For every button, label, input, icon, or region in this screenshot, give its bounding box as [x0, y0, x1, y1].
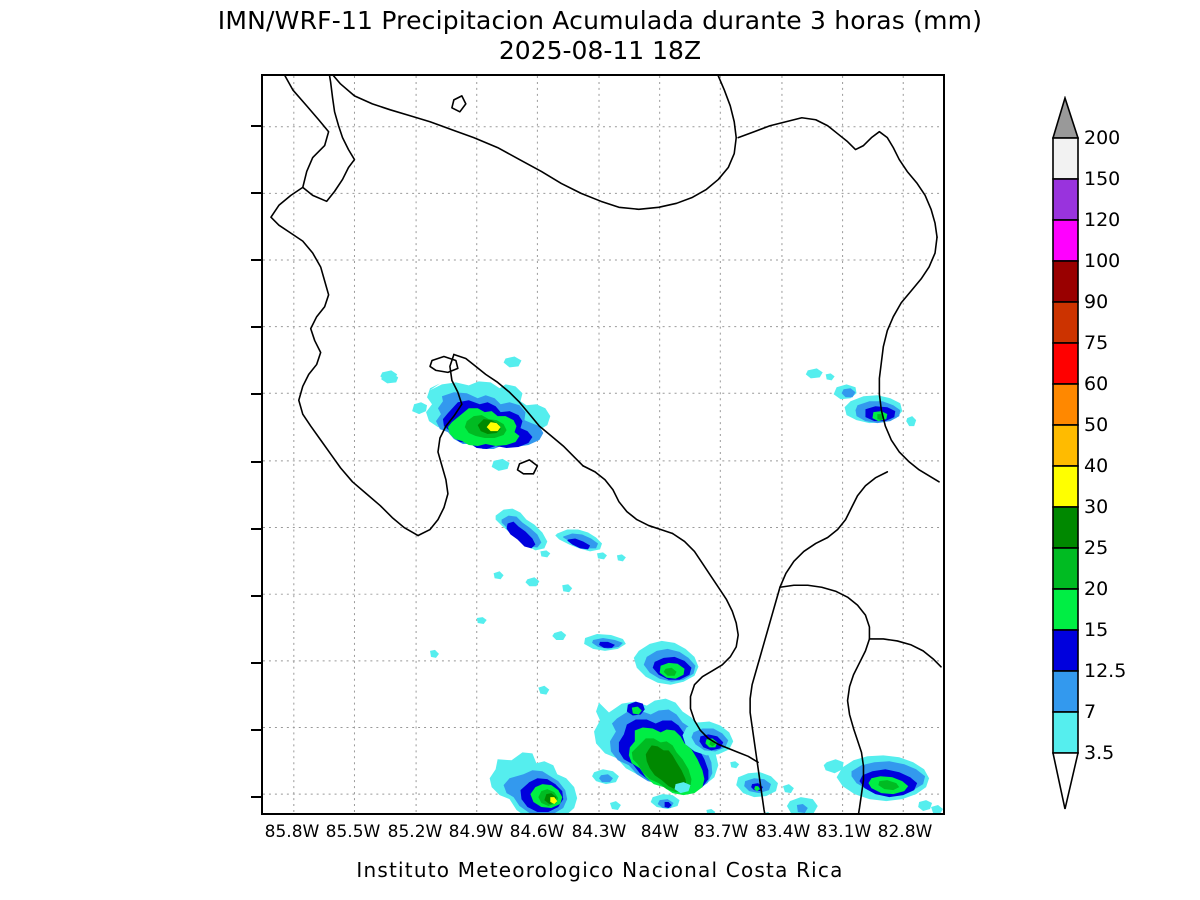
xtick-label-85-5w: 85.5W — [326, 822, 381, 842]
title-line-datetime: 2025-08-11 18Z — [0, 36, 1200, 66]
ytick-mark-8-4n — [251, 729, 261, 731]
colorbar-band-20 — [1053, 589, 1078, 630]
xtick-label-82-8w: 82.8W — [878, 822, 933, 842]
colorbar-label-200: 200 — [1084, 127, 1120, 149]
colorbar-label-7: 7 — [1084, 701, 1096, 723]
colorbar-label-60: 60 — [1084, 373, 1108, 395]
colorbar-band-150 — [1053, 179, 1078, 220]
colorbar-band-75 — [1053, 343, 1078, 384]
xtick-label-84-6w: 84.6W — [510, 822, 565, 842]
precip-cell-northeast — [806, 368, 916, 426]
ytick-mark-9n — [251, 595, 261, 597]
colorbar-band-200 — [1053, 138, 1078, 179]
ytick-mark-9-6n — [251, 461, 261, 463]
colorbar-label-150: 150 — [1084, 168, 1120, 190]
ytick-mark-10-5n — [251, 259, 261, 261]
xtick-label-84-9w: 84.9W — [449, 822, 504, 842]
colorbar-under-arrow — [1053, 753, 1078, 809]
colorbar-band-100 — [1053, 261, 1078, 302]
colorbar-band-90 — [1053, 302, 1078, 343]
colorbar-band-12-5 — [1053, 671, 1078, 712]
colorbar-label-120: 120 — [1084, 209, 1120, 231]
colorbar-over-arrow — [1053, 98, 1078, 138]
colorbar-band-25 — [1053, 548, 1078, 589]
colorbar-label-50: 50 — [1084, 414, 1108, 436]
coastline-overlay — [271, 76, 941, 813]
colorbar-label-12-5: 12.5 — [1084, 660, 1126, 682]
colorbar-band-30 — [1053, 507, 1078, 548]
xtick-label-84w: 84W — [641, 822, 679, 842]
xtick-label-85-2w: 85.2W — [388, 822, 443, 842]
title-line-main: IMN/WRF-11 Precipitacion Acumulada duran… — [0, 6, 1200, 36]
map-plot-area — [261, 74, 945, 815]
colorbar-band-120 — [1053, 220, 1078, 261]
precip-cell-panama-border — [824, 755, 932, 811]
precip-cell-south-pacific — [490, 752, 577, 813]
colorbar-legend: 200 150 120 100 90 75 60 50 40 30 25 20 … — [1052, 96, 1174, 811]
precip-cell-southeast-small — [706, 761, 817, 813]
colorbar-band-15 — [1053, 630, 1078, 671]
ytick-mark-9-3n — [251, 528, 261, 530]
colorbar-label-40: 40 — [1084, 455, 1108, 477]
ytick-mark-8-1n — [251, 796, 261, 798]
weather-map-page: IMN/WRF-11 Precipitacion Acumulada duran… — [0, 0, 1200, 900]
ytick-mark-8-7n — [251, 662, 261, 664]
chart-title: IMN/WRF-11 Precipitacion Acumulada duran… — [0, 6, 1200, 66]
xtick-label-83-7w: 83.7W — [694, 822, 749, 842]
colorbar-label-20: 20 — [1084, 578, 1108, 600]
precip-cell-arenal — [381, 373, 550, 470]
colorbar-band-40 — [1053, 466, 1078, 507]
ytick-mark-10-8n — [251, 192, 261, 194]
map-canvas — [263, 76, 943, 813]
colorbar-label-30: 30 — [1084, 496, 1108, 518]
precip-cell-central-pacific — [584, 634, 698, 685]
footer-attribution: Instituto Meteorologico Nacional Costa R… — [0, 858, 1200, 882]
colorbar-label-90: 90 — [1084, 291, 1108, 313]
colorbar-label-100: 100 — [1084, 250, 1120, 272]
colorbar-band-60 — [1053, 384, 1078, 425]
xtick-label-83-4w: 83.4W — [756, 822, 811, 842]
xtick-label-83-1w: 83.1W — [817, 822, 872, 842]
colorbar-band-50 — [1053, 425, 1078, 466]
ytick-mark-11-1n — [251, 125, 261, 127]
colorbar-bands — [1053, 138, 1078, 753]
precip-cell-cordillera — [430, 509, 626, 695]
map-gridlines — [263, 76, 943, 813]
ytick-mark-10-2n — [251, 326, 261, 328]
colorbar-label-25: 25 — [1084, 537, 1108, 559]
colorbar-label-3-5: 3.5 — [1084, 742, 1114, 764]
colorbar-canvas — [1052, 96, 1174, 811]
colorbar-label-75: 75 — [1084, 332, 1108, 354]
colorbar-band-7 — [1053, 712, 1078, 753]
ytick-mark-9-9n — [251, 393, 261, 395]
xtick-label-85-8w: 85.8W — [265, 822, 320, 842]
colorbar-label-15: 15 — [1084, 619, 1108, 641]
xtick-label-84-3w: 84.3W — [572, 822, 627, 842]
